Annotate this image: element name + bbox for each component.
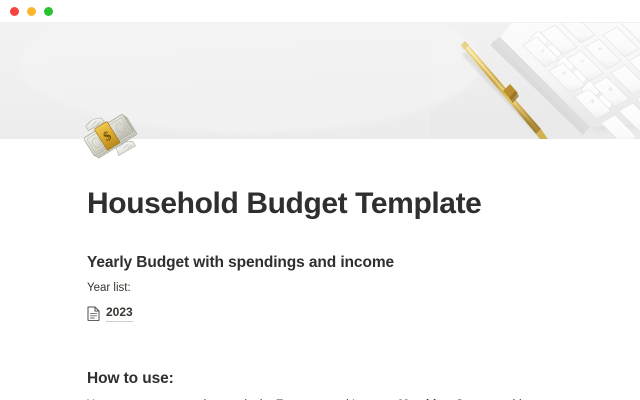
page-link-label-2023[interactable]: 2023	[106, 304, 133, 322]
page-icon-money-with-wings[interactable]: $	[84, 111, 140, 163]
page-link-2023[interactable]: 2023	[87, 304, 580, 322]
heading-yearly-budget: Yearly Budget with spendings and income	[87, 253, 580, 273]
heading-how-to-use: How to use:	[87, 369, 580, 389]
maximize-window-button[interactable]	[44, 7, 53, 16]
page-document-icon	[87, 306, 100, 321]
year-list-label: Year list:	[87, 280, 580, 297]
page-title: Household Budget Template	[87, 187, 580, 221]
close-window-button[interactable]	[10, 7, 19, 16]
app-window: Y H J K N M	[0, 0, 640, 400]
minimize-window-button[interactable]	[27, 7, 36, 16]
page-content: Household Budget Template Yearly Budget …	[0, 139, 640, 400]
window-titlebar	[0, 0, 640, 23]
money-with-wings-icon: $	[84, 111, 140, 163]
